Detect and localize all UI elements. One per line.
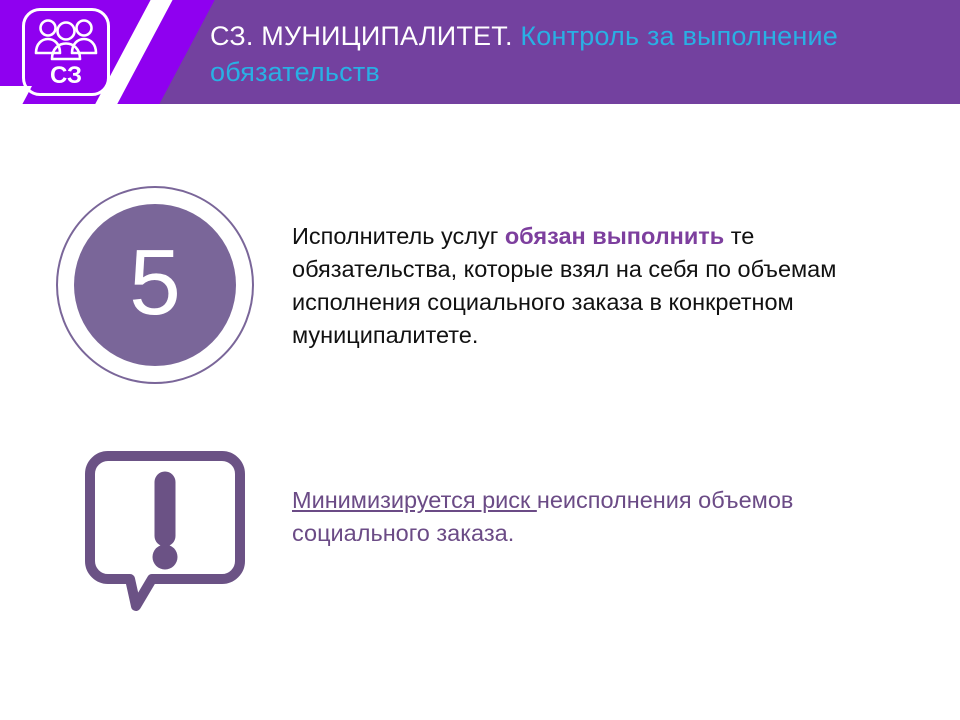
circle-fill: 5 [74,204,236,366]
logo-badge: СЗ [22,8,110,96]
people-group-icon [33,18,99,67]
numbered-circle: 5 [56,186,254,384]
note-run-underlined: Минимизируется риск [292,487,537,513]
body-paragraph: Исполнитель услуг обязан выполнить те об… [292,220,852,352]
body-run-1: Исполнитель услуг [292,223,505,249]
exclamation-speech-bubble-icon [80,440,250,615]
body-run-emphasis: обязан выполнить [505,223,724,249]
header-band: СЗ СЗ. МУНИЦИПАЛИТЕТ. Контроль за выполн… [0,0,960,104]
logo-abbreviation: СЗ [25,64,107,88]
page-title-main: СЗ. МУНИЦИПАЛИТЕТ. [210,21,513,51]
circle-number-label: 5 [129,236,181,329]
slide-canvas: СЗ СЗ. МУНИЦИПАЛИТЕТ. Контроль за выполн… [0,0,960,720]
note-paragraph: Минимизируется риск неисполнения объемов… [292,484,812,550]
page-title: СЗ. МУНИЦИПАЛИТЕТ. Контроль за выполнени… [210,18,930,90]
